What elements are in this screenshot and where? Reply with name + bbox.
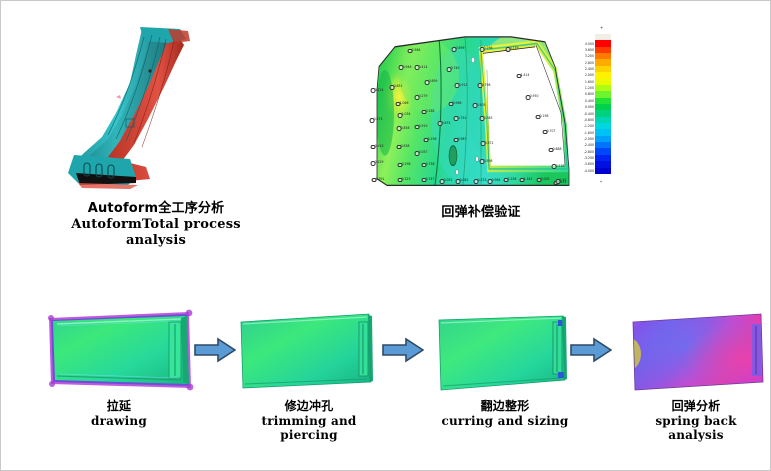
fea-point-label: 0.739 xyxy=(510,46,519,50)
stage-panel-drawing xyxy=(39,304,199,396)
fea-point-label: 0.740 xyxy=(451,66,460,70)
legend-band-label: -0.800 xyxy=(584,118,594,122)
fea-point-label: 0.051 xyxy=(444,178,453,182)
legend-band-label: 0.400 xyxy=(585,99,594,103)
caption-en-line1: drawing xyxy=(24,414,214,429)
legend-band-label: 1.200 xyxy=(585,86,594,90)
legend-band-label: 3.200 xyxy=(585,54,594,58)
stage-panel-trimming xyxy=(229,304,389,396)
fea-point-label: 0.198 xyxy=(540,114,549,118)
fea-point-label: 0.081 xyxy=(460,178,469,182)
fea-point-label: 0.919 xyxy=(419,124,428,128)
fea-point-label: 0.674 xyxy=(442,121,451,125)
fea-point-label: 1.034 xyxy=(402,112,411,116)
fea-point-label: 0.838 xyxy=(401,144,410,148)
fea-point-label: 0.888 xyxy=(553,147,562,151)
fea-point-label: 2.92 xyxy=(560,178,567,182)
fea-point-label: 0.899 xyxy=(429,79,438,83)
fea-point-label: 0.279 xyxy=(419,94,428,98)
springback-compensation-fea: 0.5840.6990.2960.7391.4140.9460.4140.740… xyxy=(369,27,574,192)
slide-canvas: 0.5840.6990.2960.7391.4140.9460.4140.740… xyxy=(0,0,771,471)
fea-point-label: 0.950 xyxy=(530,94,539,98)
caption-en-line1: spring back xyxy=(601,414,771,429)
fea-point-label: 0.964 xyxy=(492,178,501,182)
fea-contour-plot xyxy=(369,27,574,192)
legend-band-label: 0.800 xyxy=(585,92,594,96)
caption-en-line1: trimming and xyxy=(214,414,404,429)
stage-panel-springback xyxy=(621,304,771,396)
caption-stage-springback: 回弹分析 spring back analysis xyxy=(601,399,771,443)
fea-point-label: 0.288 xyxy=(426,109,435,113)
caption-stage-trimming: 修边冲孔 trimming and piercing xyxy=(214,399,404,443)
caption-cn: 拉延 xyxy=(24,399,214,414)
legend-band-label: -3.200 xyxy=(584,156,594,160)
fea-point-label: 1.066 xyxy=(400,101,409,105)
legend-band-label: 4.000 xyxy=(585,42,594,46)
caption-cn: 回弹分析 xyxy=(601,399,771,414)
legend-band-label: -1.200 xyxy=(584,124,594,128)
fea-point-label: 0.573 xyxy=(374,117,383,121)
fea-point-label: 0.323 xyxy=(402,177,411,181)
legend-band-label: -1.600 xyxy=(584,131,594,135)
fea-point-label: 0.505 xyxy=(477,103,486,107)
fea-point-label: 0.913 xyxy=(459,83,468,87)
caption-stage-drawing: 拉延 drawing xyxy=(24,399,214,428)
fea-point-label: 1.414 xyxy=(521,73,530,77)
legend-band-label: 1.600 xyxy=(585,80,594,84)
caption-cn: Autoform全工序分析 xyxy=(11,201,301,217)
fea-point-label: 0.966 xyxy=(453,101,462,105)
fea-point-label: 0.296 xyxy=(484,46,493,50)
fea-point-label: 0.414 xyxy=(419,65,428,69)
caption-springback-compensation: 回弹补偿验证 xyxy=(386,205,576,221)
fea-point-label: 0.699 xyxy=(456,46,465,50)
legend-top-marker: + xyxy=(600,25,603,30)
fea-point-label: 0.229 xyxy=(375,160,384,164)
caption-cn: 回弹补偿验证 xyxy=(386,205,576,221)
legend-band-label: -4.000 xyxy=(584,169,594,173)
process-arrow-2 xyxy=(382,337,424,363)
caption-cn: 翻边整形 xyxy=(410,399,600,414)
fea-point-label: 0.298 xyxy=(402,162,411,166)
legend-band-label: -2.400 xyxy=(584,143,594,147)
fea-point-label: 0.196 xyxy=(428,137,437,141)
legend-band xyxy=(595,168,611,174)
legend-bottom-marker: * xyxy=(600,180,602,185)
fea-point-label: 0.584 xyxy=(412,48,421,52)
fea-point-label: 0.057 xyxy=(419,150,428,154)
fea-point-label: 0.747 xyxy=(426,177,435,181)
legend-band-label: -2.000 xyxy=(584,137,594,141)
fea-point-label: 0.707 xyxy=(547,129,556,133)
legend-band-label: 3.600 xyxy=(585,48,594,52)
caption-cn: 修边冲孔 xyxy=(214,399,404,414)
fea-point-label: 2.005 xyxy=(541,177,550,181)
fea-point-label: 0.946 xyxy=(403,65,412,69)
legend-band-label: 2.800 xyxy=(585,61,594,65)
fea-point-label: 0.372 xyxy=(485,141,494,145)
caption-en-line1: AutoformTotal process xyxy=(11,217,301,233)
fea-point-label: 0.858 xyxy=(401,126,410,130)
caption-en-line2: piercing xyxy=(214,428,404,443)
fea-point-label: 2.258 xyxy=(508,177,517,181)
fea-point-label: 0.143 xyxy=(375,144,384,148)
caption-en-line2: analysis xyxy=(11,233,301,249)
legend-band-label: 0.000 xyxy=(585,105,594,109)
contour-color-legend: + 4.0003.6003.2002.8002.4002.0001.6001.2… xyxy=(595,34,611,174)
fea-point-label: 0.385 xyxy=(484,116,493,120)
fea-point-label: 0.224 xyxy=(375,88,384,92)
fea-point-label: 0.538 xyxy=(556,164,565,168)
fea-point-label: 0.987 xyxy=(458,137,467,141)
fea-point-label: 0.598 xyxy=(484,159,493,163)
caption-autoform-analysis: Autoform全工序分析 AutoformTotal process anal… xyxy=(11,201,301,249)
legend-band-label: -0.400 xyxy=(584,112,594,116)
legend-band-label: -2.800 xyxy=(584,150,594,154)
fea-point-label: 0.751 xyxy=(458,116,467,120)
fea-point-label: 0.798 xyxy=(482,83,491,87)
caption-en-line2: analysis xyxy=(601,428,771,443)
legend-band-label: 2.000 xyxy=(585,73,594,77)
a-pillar-part-3d xyxy=(56,15,201,190)
fea-point-label: 0.758 xyxy=(426,162,435,166)
legend-band-label: -3.600 xyxy=(584,162,594,166)
fea-point-label: 0.851 xyxy=(394,84,403,88)
fea-point-label: 0.591 xyxy=(376,177,385,181)
fea-point-label: 0.233 xyxy=(478,178,487,182)
legend-band-label: 2.400 xyxy=(585,67,594,71)
stage-panel-curring xyxy=(425,304,585,396)
fea-point-label: 1.342 xyxy=(524,177,533,181)
process-arrow-3 xyxy=(570,337,612,363)
caption-stage-curring: 翻边整形 curring and sizing xyxy=(410,399,600,428)
caption-en-line1: curring and sizing xyxy=(410,414,600,429)
